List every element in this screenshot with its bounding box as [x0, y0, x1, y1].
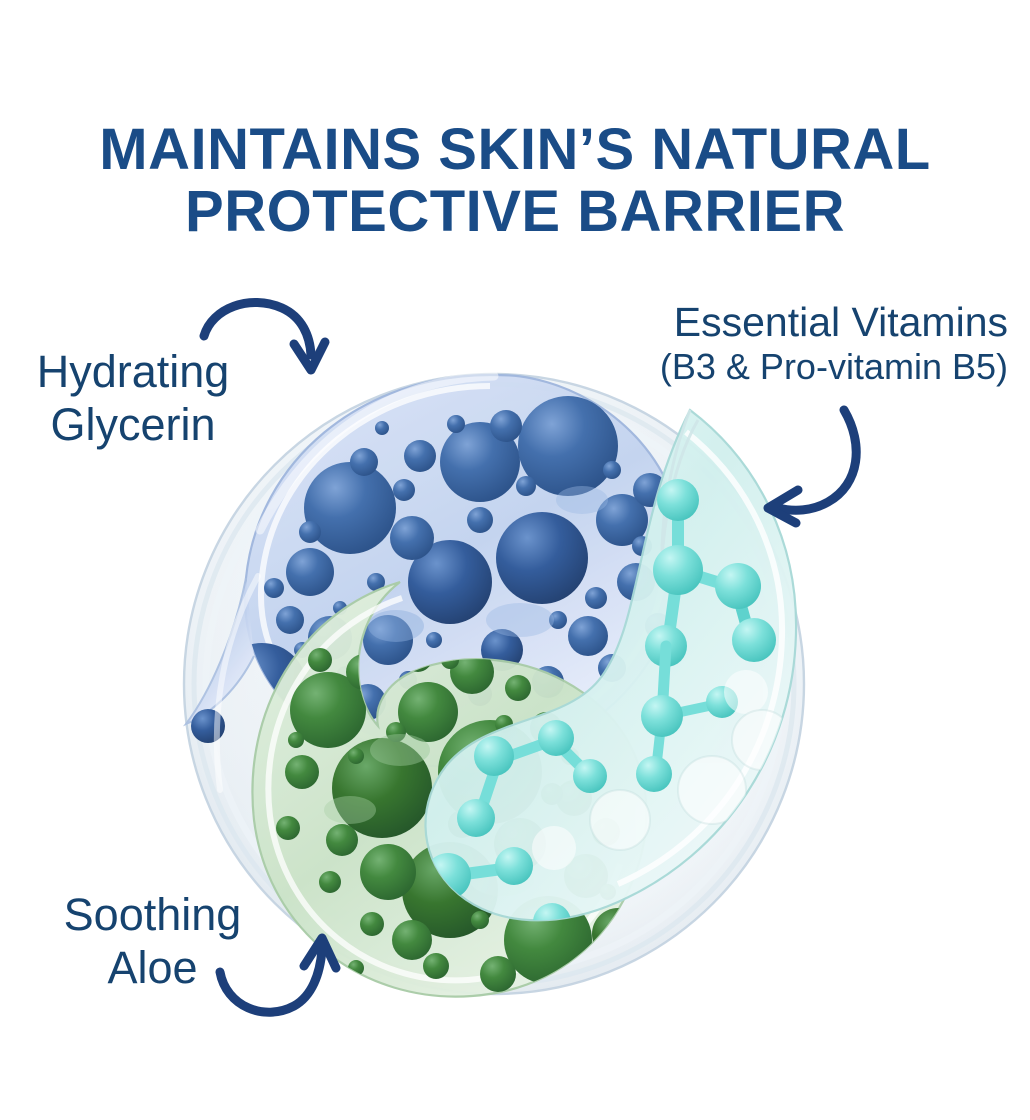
curved-arrow-down-right-icon: [198, 292, 328, 387]
promo-graphic-page: MAINTAINS SKIN’S NATURAL PROTECTIVE BARR…: [0, 0, 1030, 1120]
page-title-line-1: MAINTAINS SKIN’S NATURAL: [0, 119, 1030, 181]
curved-arrow-down-left-icon: [752, 398, 872, 528]
page-title-line-2: PROTECTIVE BARRIER: [0, 181, 1030, 243]
curved-arrow-up-right-icon: [212, 930, 342, 1025]
page-title: MAINTAINS SKIN’S NATURAL PROTECTIVE BARR…: [0, 119, 1030, 243]
callout-vitamins-line-2: (B3 & Pro-vitamin B5): [628, 346, 1008, 388]
callout-essential-vitamins: Essential Vitamins (B3 & Pro-vitamin B5): [628, 298, 1008, 389]
callout-vitamins-line-1: Essential Vitamins: [628, 298, 1008, 346]
callout-glycerin-line-2: Glycerin: [18, 398, 248, 451]
